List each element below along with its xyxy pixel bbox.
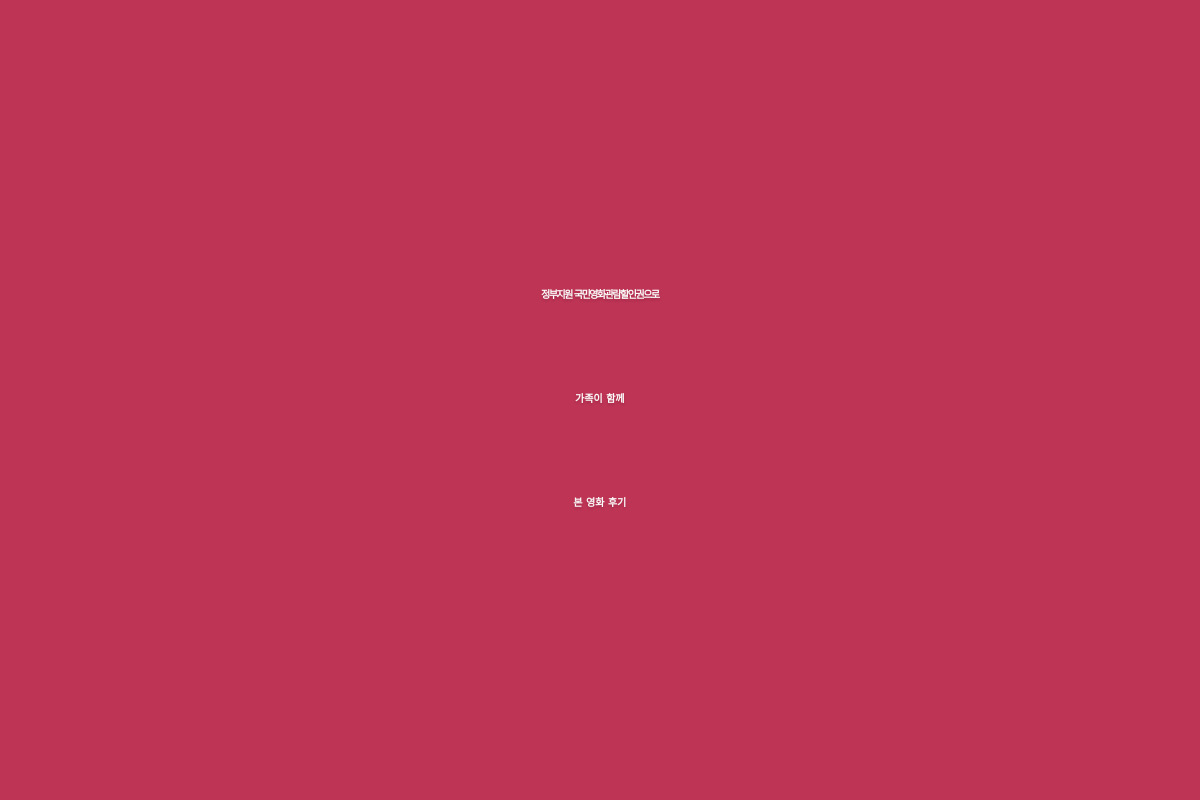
title-card: 정부지원 국민영화관람할인권으로 가족이 함께 본 영화 후기 (0, 0, 1200, 800)
headline-block: 정부지원 국민영화관람할인권으로 가족이 함께 본 영화 후기 (0, 244, 1200, 556)
headline-line-1: 정부지원 국민영화관람할인권으로 (8, 244, 1192, 348)
headline-line-3: 본 영화 후기 (8, 452, 1192, 556)
headline-line-2: 가족이 함께 (8, 348, 1192, 452)
